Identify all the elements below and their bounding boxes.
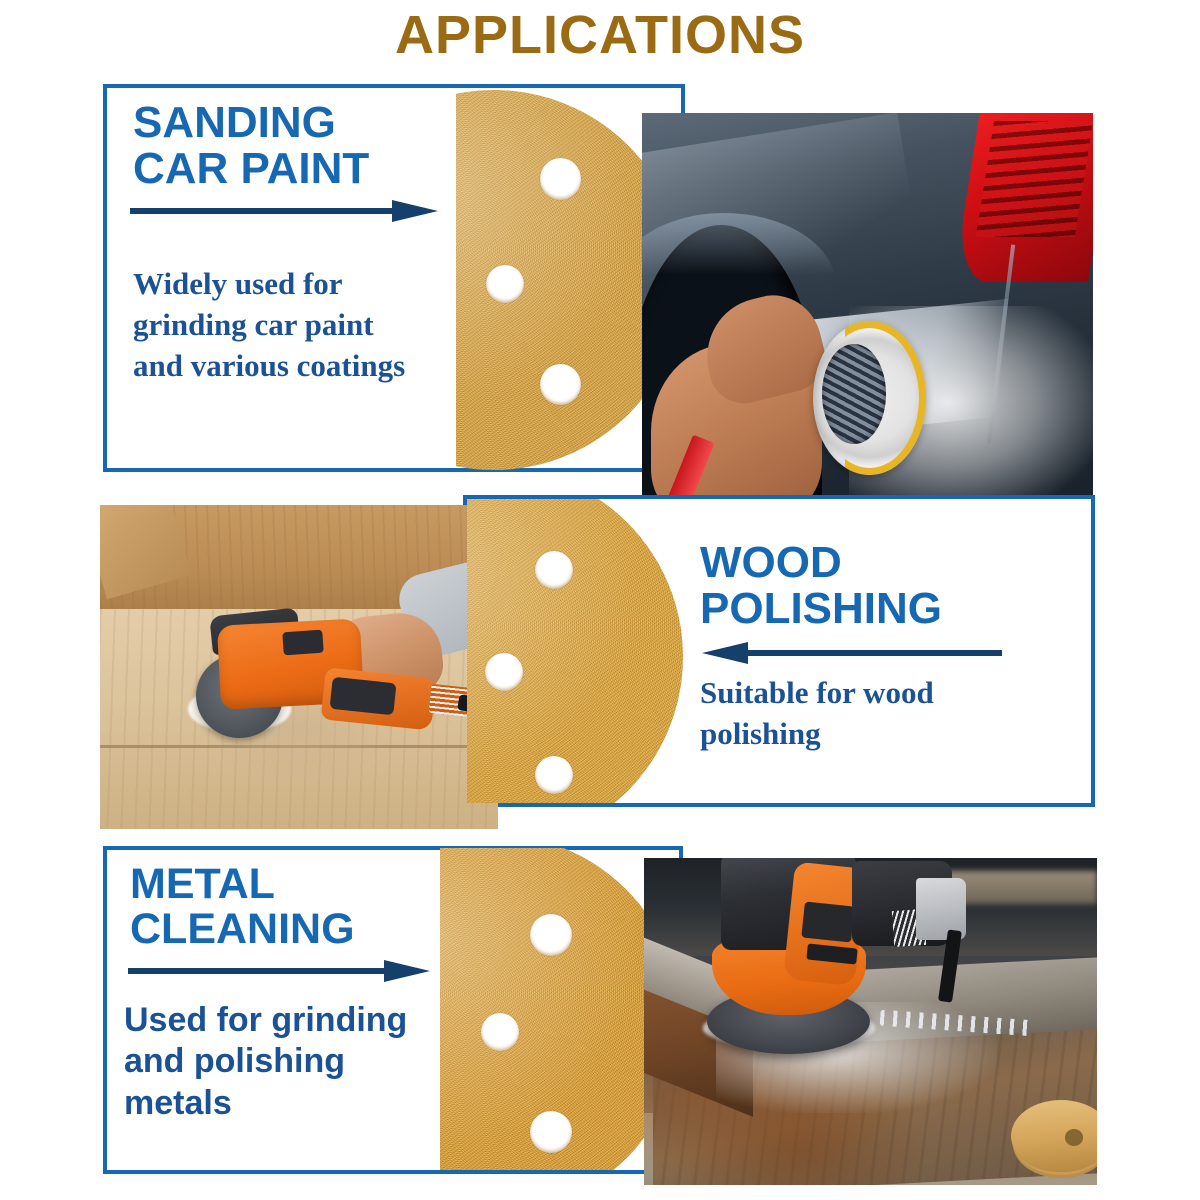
arrow-left-icon: [702, 640, 1002, 666]
sanding-disc-2: [467, 499, 683, 803]
sander-window: [801, 901, 854, 942]
panel-heading-sanding-car-paint: SANDING CAR PAINT: [133, 100, 369, 192]
disc-hole: [481, 1013, 519, 1051]
disc-hole: [540, 364, 582, 406]
disc-hole: [535, 551, 573, 589]
disc-hole: [530, 1111, 572, 1153]
disc-hole: [486, 265, 524, 303]
photo-metal-cleaning: [644, 858, 1097, 1185]
disc-hole: [485, 653, 523, 691]
sanding-disc-surface: [467, 499, 683, 803]
photo-wood-polishing: [100, 505, 498, 829]
panel-heading-metal-cleaning: METAL CLEANING: [130, 862, 355, 951]
panel-body-metal-cleaning: Used for grinding and polishing metals: [124, 1000, 464, 1124]
disc-hole: [535, 756, 573, 794]
arrow-right-icon: [128, 958, 430, 984]
disc-hole: [530, 914, 572, 956]
page-title: APPLICATIONS: [0, 8, 1200, 62]
panel-body-sanding-car-paint: Widely used for grinding car paint and v…: [133, 264, 473, 387]
sander-switch: [282, 630, 323, 655]
car-taillight-detail: [976, 121, 1093, 237]
polisher-hub: [822, 344, 885, 444]
arrow-right-icon: [130, 198, 438, 224]
applications-infographic: APPLICATIONS SANDING CAR PAINT Widely us…: [0, 0, 1200, 1200]
panel-heading-wood-polishing: WOOD POLISHING: [700, 540, 942, 632]
panel-body-wood-polishing: Suitable for wood polishing: [700, 673, 1030, 755]
photo-sanding-car-paint: [642, 113, 1093, 498]
disc-hole: [540, 158, 582, 200]
